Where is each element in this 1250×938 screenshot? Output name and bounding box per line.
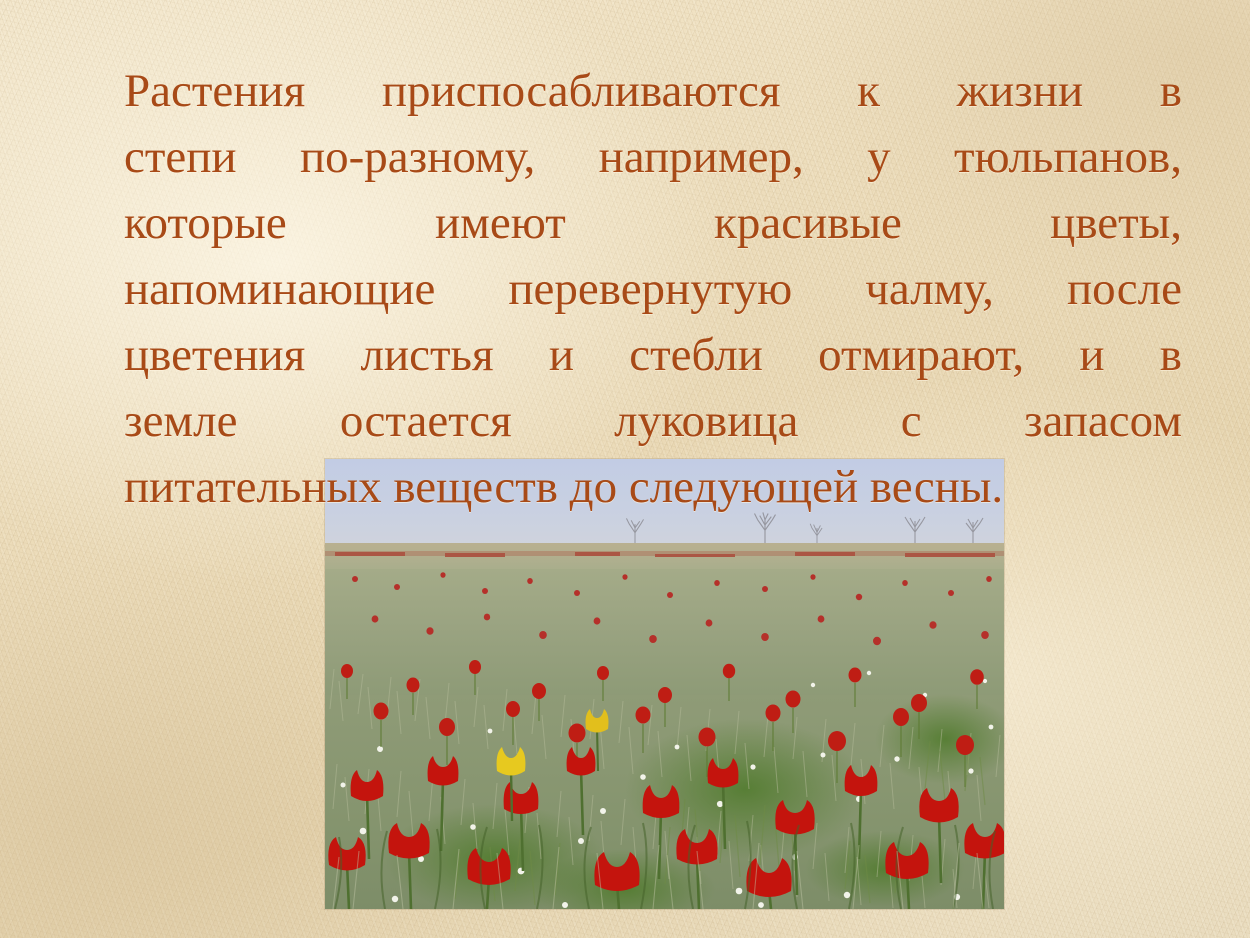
body-line-6: земле остается луковица с запасом <box>124 388 1182 454</box>
body-line-7: питательных веществ до следующей весны. <box>124 454 1182 520</box>
body-line-5: цветения листья и стебли отмирают, и в <box>124 322 1182 388</box>
body-line-3: которые имеют красивые цветы, <box>124 190 1182 256</box>
slide-body-text: Растения приспосабливаются к жизни в сте… <box>124 58 1182 520</box>
body-line-1: Растения приспосабливаются к жизни в <box>124 58 1182 124</box>
slide-canvas: Растения приспосабливаются к жизни в сте… <box>0 0 1250 938</box>
body-line-2: степи по-разному, например, у тюльпанов, <box>124 124 1182 190</box>
photo-illustration <box>325 459 1004 909</box>
steppe-tulips-photo <box>325 459 1004 909</box>
body-line-4: напоминающие перевернутую чалму, после <box>124 256 1182 322</box>
